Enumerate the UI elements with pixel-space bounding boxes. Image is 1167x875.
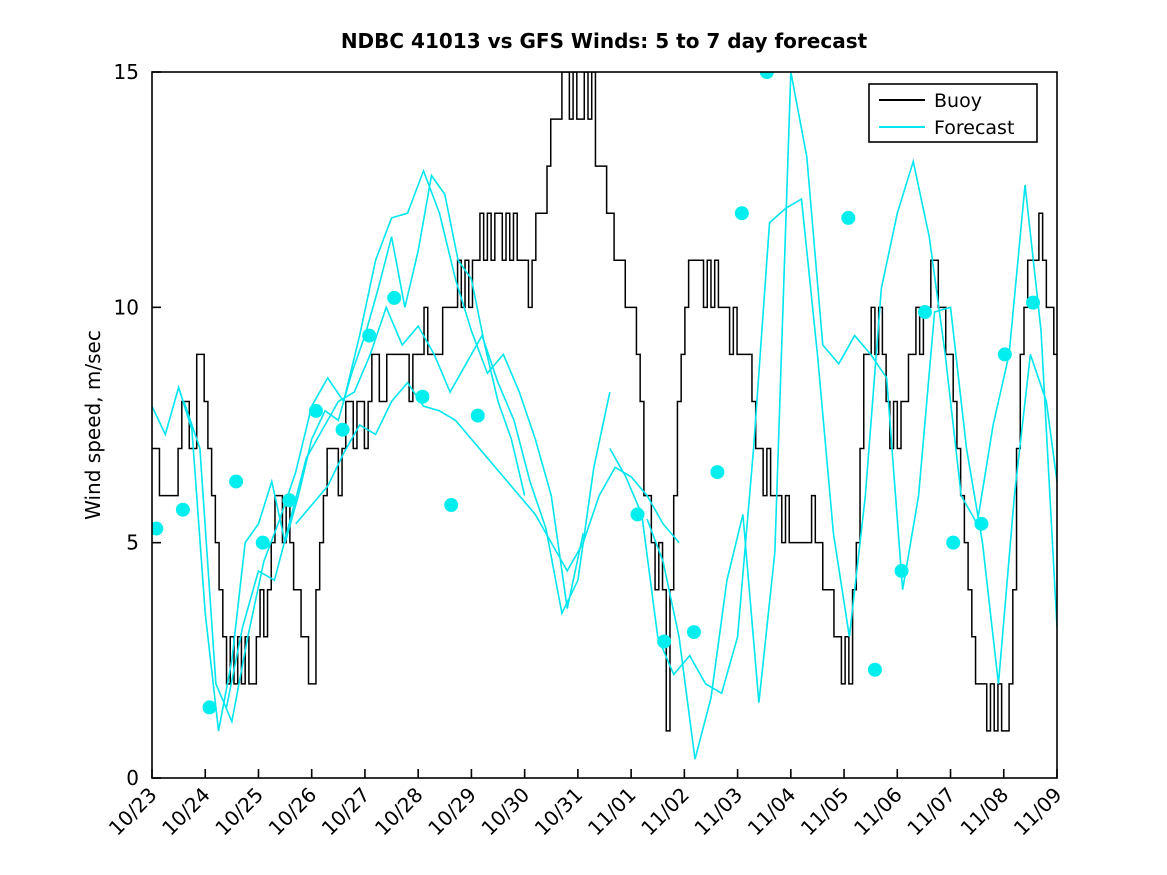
forecast-point-marker	[1026, 296, 1040, 310]
forecast-point-marker	[471, 409, 485, 423]
forecast-point-marker	[282, 493, 296, 507]
forecast-point-marker	[387, 291, 401, 305]
chart-legend[interactable]: Buoy Forecast	[869, 84, 1037, 142]
forecast-point-marker	[444, 498, 458, 512]
y-tick-label: 15	[114, 60, 139, 84]
chart-svg: NDBC 41013 vs GFS Winds: 5 to 7 day fore…	[0, 0, 1167, 875]
forecast-point-marker	[415, 390, 429, 404]
figure-canvas: NDBC 41013 vs GFS Winds: 5 to 7 day fore…	[0, 0, 1167, 875]
forecast-point-marker	[309, 404, 323, 418]
forecast-point-marker	[868, 663, 882, 677]
forecast-point-marker	[336, 423, 350, 437]
forecast-point-marker	[176, 503, 190, 517]
forecast-point-marker	[229, 474, 243, 488]
forecast-point-marker	[918, 305, 932, 319]
forecast-point-marker	[735, 206, 749, 220]
legend-label-forecast: Forecast	[934, 117, 1014, 139]
forecast-point-marker	[256, 536, 270, 550]
chart-title: NDBC 41013 vs GFS Winds: 5 to 7 day fore…	[341, 29, 868, 53]
y-tick-label: 0	[126, 766, 139, 790]
forecast-point-marker	[362, 329, 376, 343]
y-axis-label: Wind speed, m/sec	[81, 330, 105, 520]
forecast-point-marker	[841, 211, 855, 225]
forecast-point-marker	[974, 517, 988, 531]
y-tick-label: 5	[126, 531, 139, 555]
forecast-point-marker	[657, 635, 671, 649]
forecast-point-marker	[687, 625, 701, 639]
legend-label-buoy: Buoy	[934, 90, 982, 112]
y-tick-label: 10	[114, 295, 139, 319]
forecast-point-marker	[631, 507, 645, 521]
forecast-point-marker	[895, 564, 909, 578]
forecast-point-marker	[710, 465, 724, 479]
forecast-point-marker	[946, 536, 960, 550]
forecast-point-marker	[202, 700, 216, 714]
forecast-point-marker	[998, 347, 1012, 361]
